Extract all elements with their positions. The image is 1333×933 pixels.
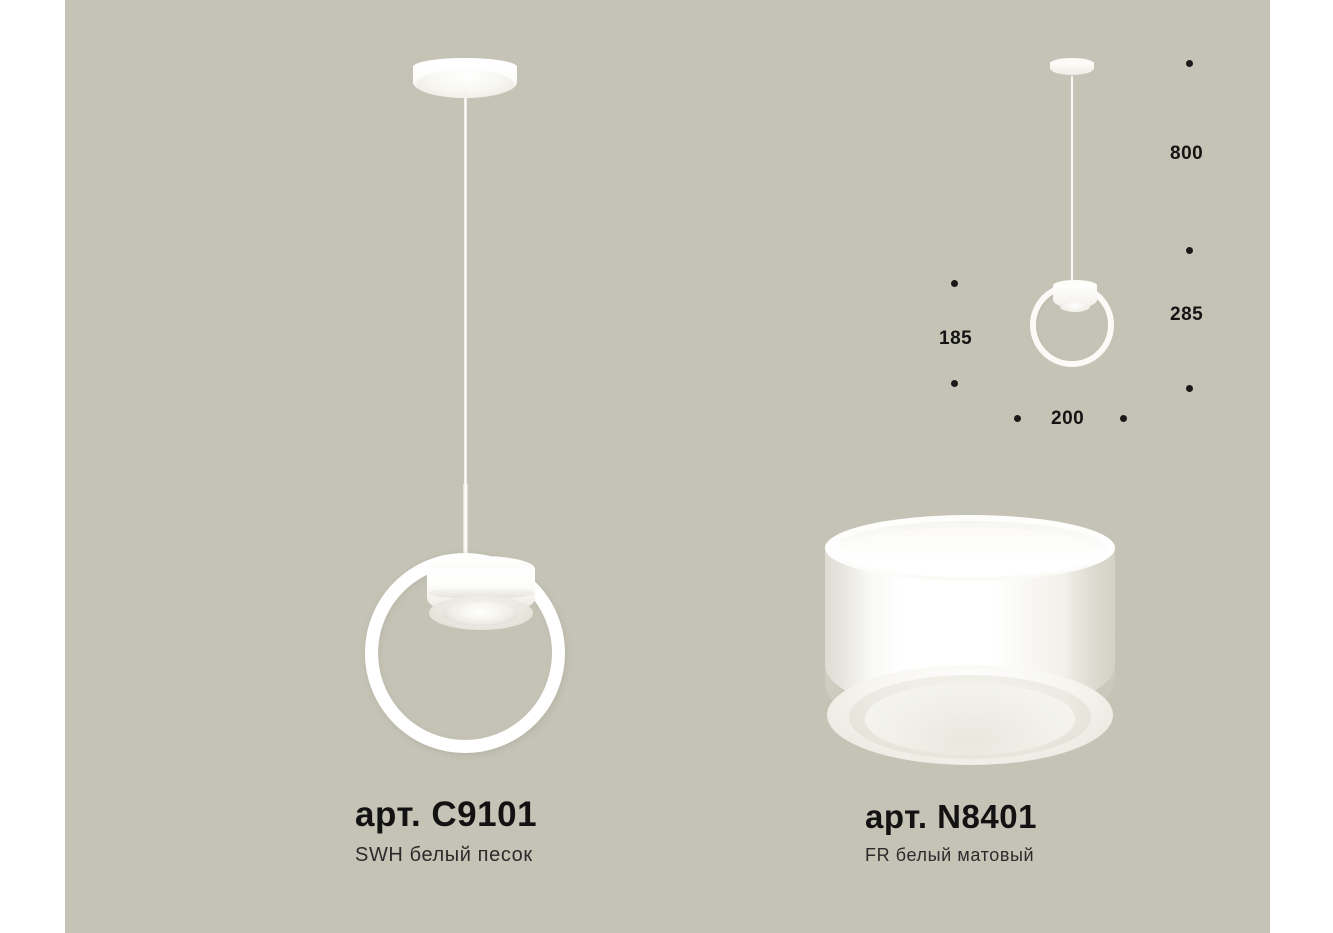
diagram-head-lens: [1060, 301, 1090, 312]
article-label-left: арт. C9101: [355, 795, 537, 835]
finish-label-right: FR белый матовый: [865, 845, 1037, 866]
dim-dot-ring-top: [951, 280, 958, 287]
dim-dot-drop-bottom: [1186, 247, 1193, 254]
dim-dot-width-right: [1120, 415, 1127, 422]
dim-dot-ring-bottom: [951, 380, 958, 387]
diagram-cord: [1071, 76, 1073, 284]
diffuser-shade: [825, 515, 1115, 770]
finish-label-left: SWH белый песок: [355, 844, 537, 867]
dim-label-200: 200: [1051, 408, 1084, 430]
dim-label-800: 800: [1170, 143, 1203, 165]
canopy-cord-exit: [462, 91, 468, 98]
diagram-lamp-head: [1053, 280, 1097, 316]
lamp-head: [427, 556, 535, 634]
diagram-canopy-body: [1050, 62, 1094, 75]
caption-right-product: арт. N8401 FR белый матовый: [865, 798, 1037, 866]
article-label-right: арт. N8401: [865, 798, 1037, 836]
lamp-lens: [457, 606, 505, 621]
caption-left-product: арт. C9101 SWH белый песок: [355, 795, 537, 867]
suspension-cord: [464, 98, 467, 498]
shade-inner-cavity: [865, 683, 1075, 755]
dimension-diagram: 800 285 185 200: [925, 40, 1255, 440]
shade-top-rim-innermost: [843, 527, 1097, 575]
dim-label-185: 185: [939, 328, 972, 350]
dim-dot-drop-top: [1186, 60, 1193, 67]
suspension-cord-lower: [463, 484, 468, 564]
dim-dot-fixture-bottom: [1186, 385, 1193, 392]
dim-dot-width-left: [1014, 415, 1021, 422]
beige-background-panel: 800 285 185 200 арт. C9101 SWH белый пес…: [65, 0, 1270, 933]
dim-label-285: 285: [1170, 304, 1203, 326]
product-sheet: 800 285 185 200 арт. C9101 SWH белый пес…: [0, 0, 1333, 933]
